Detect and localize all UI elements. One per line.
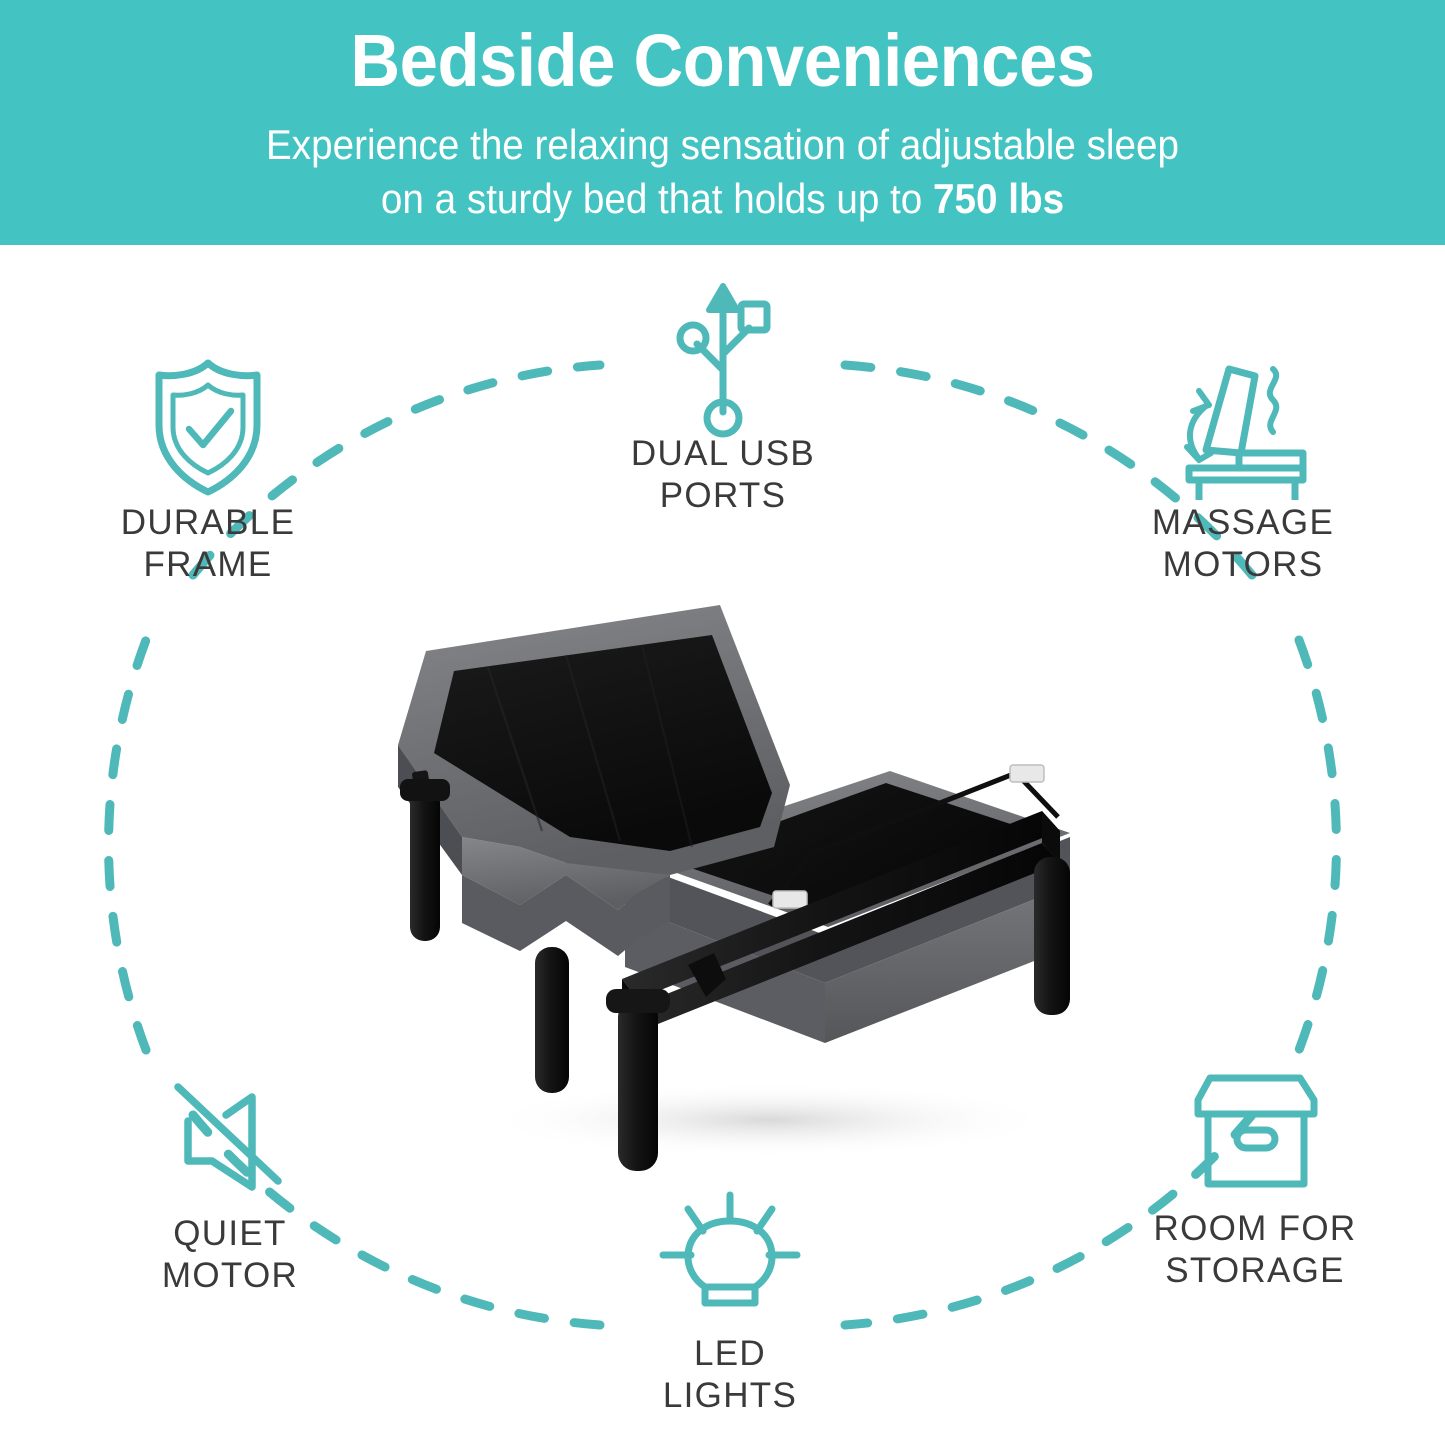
arc-left	[109, 640, 146, 1050]
page-subtitle: Experience the relaxing sensation of adj…	[58, 118, 1387, 226]
weight-capacity-value: 750 lbs	[933, 175, 1064, 222]
infographic-page: Bedside Conveniences Experience the rela…	[0, 0, 1445, 1445]
leg-head-left	[410, 789, 440, 941]
feature-label: LED LIGHTS	[580, 1333, 880, 1417]
leg-middle	[535, 947, 569, 1093]
bed-head-section	[398, 605, 790, 875]
feature-label-line2: MOTORS	[1093, 544, 1393, 586]
feature-durable-frame[interactable]: DURABLE FRAME	[58, 352, 358, 586]
header-banner: Bedside Conveniences Experience the rela…	[0, 0, 1445, 245]
feature-label-line1: QUIET	[80, 1213, 380, 1255]
feature-quiet-motor[interactable]: QUIET MOTOR	[80, 1063, 380, 1297]
light-bulb-icon	[580, 1183, 880, 1333]
feature-label: ROOM FOR STORAGE	[1105, 1208, 1405, 1292]
arc-right	[1299, 640, 1336, 1050]
feature-label-line1: DURABLE	[58, 502, 358, 544]
floor-shadow	[480, 1082, 1060, 1158]
leg-foot-left	[618, 999, 658, 1171]
adjustable-bed-image	[370, 575, 1090, 1200]
feature-label-line1: LED	[580, 1333, 880, 1375]
feature-label-line2: STORAGE	[1105, 1250, 1405, 1292]
feature-dual-usb-ports[interactable]: DUAL USB PORTS	[573, 283, 873, 517]
feature-label-line2: LIGHTS	[580, 1375, 880, 1417]
feature-led-lights[interactable]: LED LIGHTS	[580, 1183, 880, 1417]
subtitle-line-2: on a sturdy bed that holds up to 750 lbs	[58, 172, 1387, 226]
feature-room-for-storage[interactable]: ROOM FOR STORAGE	[1105, 1058, 1405, 1292]
retainer-clip-right	[1010, 765, 1044, 782]
feature-label: MASSAGE MOTORS	[1093, 502, 1393, 586]
subtitle-prefix: on a sturdy bed that holds up to	[381, 175, 933, 222]
feature-label: QUIET MOTOR	[80, 1213, 380, 1297]
feature-massage-motors[interactable]: MASSAGE MOTORS	[1093, 352, 1393, 586]
retainer-clip-left	[773, 891, 807, 908]
shield-check-icon	[58, 352, 358, 502]
feature-label-line1: ROOM FOR	[1105, 1208, 1405, 1250]
feature-label-line2: PORTS	[573, 475, 873, 517]
feature-label-line2: FRAME	[58, 544, 358, 586]
leg-foot-right	[1034, 857, 1070, 1015]
page-title: Bedside Conveniences	[51, 24, 1395, 98]
muted-speaker-icon	[80, 1063, 380, 1213]
adjustable-bed-vibration-icon	[1093, 352, 1393, 502]
feature-label: DURABLE FRAME	[58, 502, 358, 586]
feature-label-line1: DUAL USB	[573, 433, 873, 475]
feature-label-line1: MASSAGE	[1093, 502, 1393, 544]
usb-icon	[573, 283, 873, 433]
subtitle-line-1: Experience the relaxing sensation of adj…	[58, 118, 1387, 172]
feature-label-line2: MOTOR	[80, 1255, 380, 1297]
feature-label: DUAL USB PORTS	[573, 433, 873, 517]
storage-box-icon	[1105, 1058, 1405, 1208]
